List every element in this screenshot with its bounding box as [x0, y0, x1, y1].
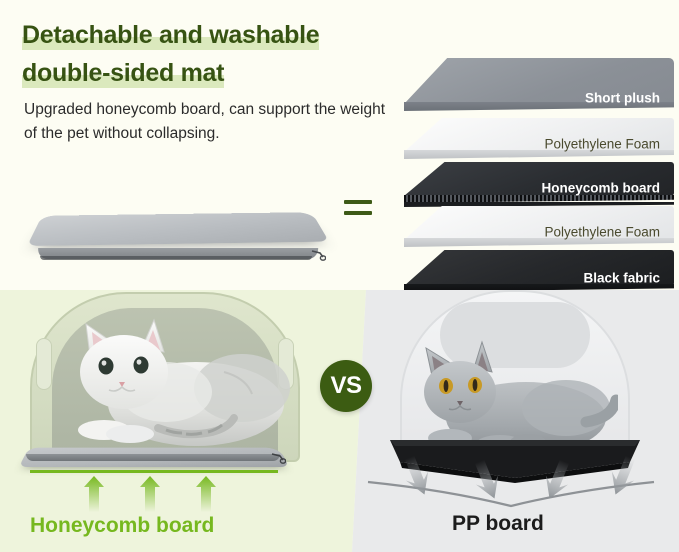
layer-short-plush: Short plush: [404, 58, 674, 116]
support-line-flat: [30, 470, 278, 473]
title-text-1: Detachable and washable: [22, 21, 319, 49]
product-mat-image: [22, 192, 332, 274]
downward-force-arrows: [380, 450, 650, 506]
vs-label: VS: [330, 372, 361, 400]
equals-bar-top: [344, 200, 372, 204]
white-cat-photo: [46, 308, 296, 458]
layer-polyethylene-foam-top: Polyethylene Foam: [404, 118, 674, 164]
layer-label-honeycomb-board: Honeycomb board: [541, 181, 660, 196]
layer-label-foam-bottom: Polyethylene Foam: [544, 225, 660, 240]
comparison-section: Honeycomb board: [0, 290, 679, 552]
caption-honeycomb-board: Honeycomb board: [30, 514, 330, 538]
page-title-line-2: double-sided mat: [22, 54, 224, 92]
zipper-pull-icon-left-mat: [270, 452, 286, 464]
layer-label-foam-top: Polyethylene Foam: [544, 137, 660, 152]
top-section: Detachable and washable double-sided mat…: [0, 0, 679, 290]
comparison-panel-left: Honeycomb board: [0, 290, 380, 552]
mat-top-surface: [27, 212, 329, 246]
title-text-2: double-sided mat: [22, 59, 224, 87]
title-block: Detachable and washable double-sided mat: [22, 16, 402, 92]
layer-stack-diagram: Short plush Polyethylene Foam Honeycomb …: [404, 58, 674, 273]
equals-sign: [344, 200, 372, 222]
upward-force-arrows: [80, 476, 260, 512]
page-subtitle: Upgraded honeycomb board, can support th…: [24, 98, 394, 146]
vs-badge: VS: [320, 360, 372, 412]
layer-label-short-plush: Short plush: [585, 91, 660, 106]
infographic-page: Detachable and washable double-sided mat…: [0, 0, 679, 552]
equals-bar-bottom: [344, 211, 372, 215]
zipper-pull-icon: [310, 249, 326, 261]
layer-label-black-fabric: Black fabric: [583, 271, 660, 286]
layer-polyethylene-foam-bottom: Polyethylene Foam: [404, 206, 674, 252]
mat-bottom-edge: [40, 256, 312, 260]
caption-pp-board: PP board: [452, 512, 672, 536]
flat-gray-mat-edge: [26, 454, 280, 461]
comparison-panel-right: PP board: [340, 290, 679, 552]
honeycomb-flute-texture: [404, 195, 674, 203]
page-title-line-1: Detachable and washable: [22, 16, 319, 54]
